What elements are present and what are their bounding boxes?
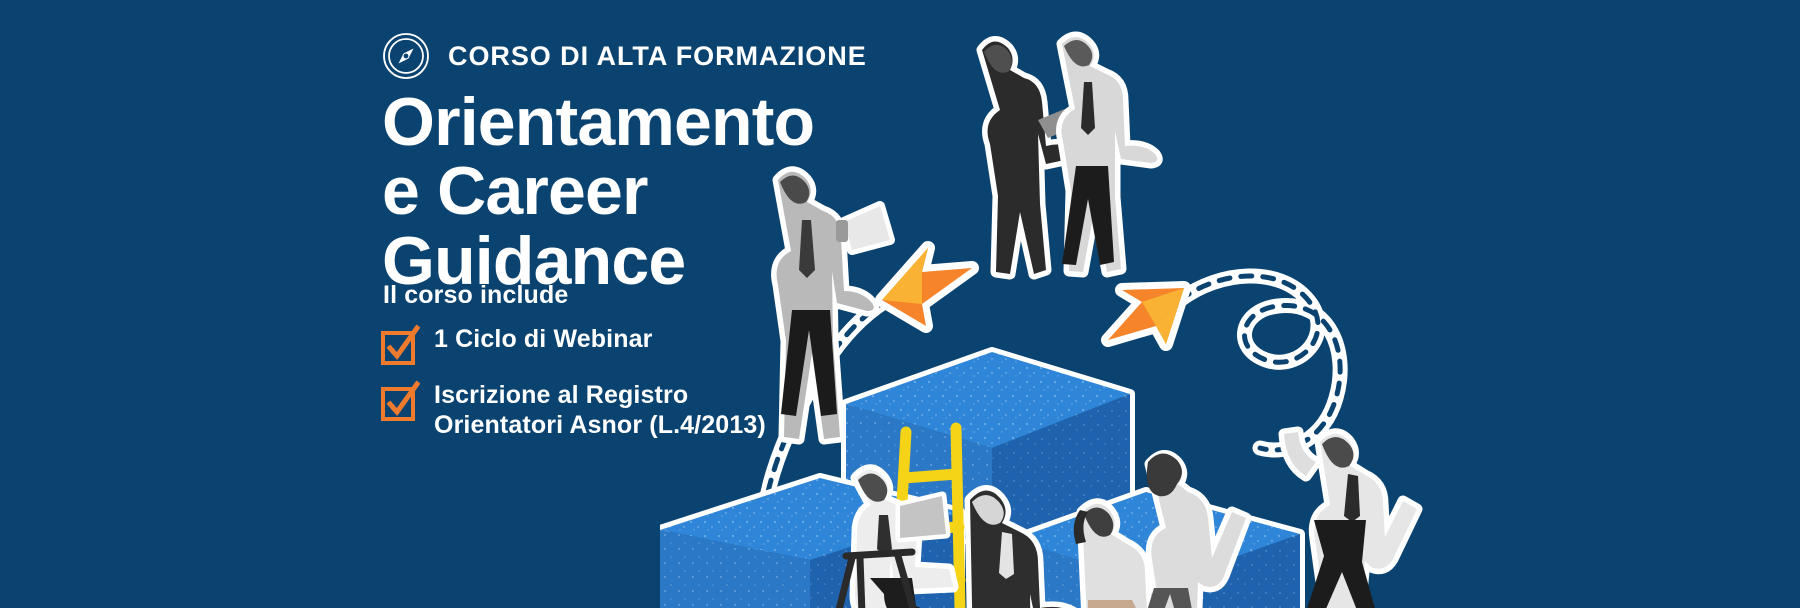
- includes-label: Il corso include: [383, 283, 568, 308]
- list-item-label: 1 Ciclo di Webinar: [434, 322, 653, 355]
- collage-svg: [660, 0, 1520, 608]
- checkbox-checked-icon: [380, 380, 420, 424]
- arrow-down-left: [1108, 288, 1184, 344]
- person-presenting-man: [1062, 37, 1158, 272]
- compass-icon: [382, 32, 430, 80]
- dashed-path-right-loop: [1180, 276, 1340, 450]
- checkbox-checked-icon: [380, 324, 420, 368]
- promo-banner: CORSO DI ALTA FORMAZIONE Orientamento e …: [0, 0, 1800, 608]
- career-growth-collage: [660, 0, 1520, 608]
- arrow-up-right: [882, 248, 972, 326]
